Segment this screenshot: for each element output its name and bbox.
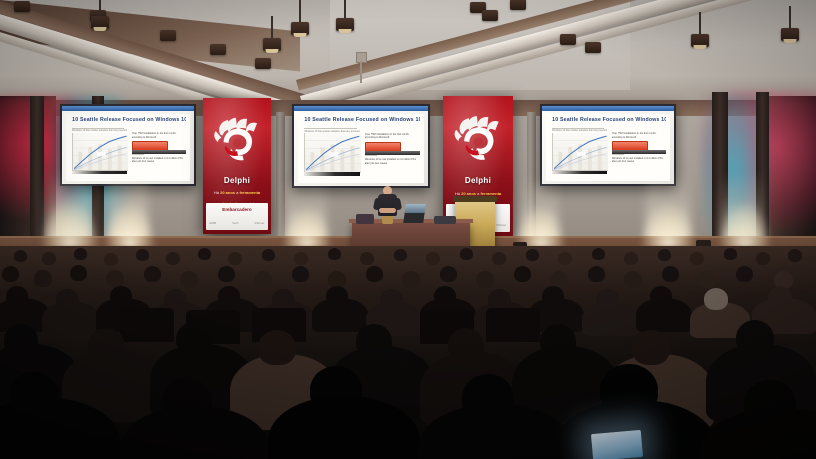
audience-head [258,330,296,365]
audience-head [460,248,473,260]
speaker-hands [379,208,396,213]
stage-spotlight-icon [585,42,601,53]
stage-spotlight-icon [510,0,526,10]
audience-head-grey-hair [704,288,728,310]
audience-head [542,286,564,306]
slide-window-titlebar [542,106,674,111]
ceiling [0,0,816,108]
sponsor-logo-center: Tech [232,221,238,225]
audience-head [166,252,180,265]
sponsor-logo-right: Partner [496,223,506,227]
audience-head [42,252,56,265]
presenter-table [352,222,470,248]
slide-chart-footer [552,171,607,174]
audience-head [272,289,295,310]
audience-head [744,380,796,428]
slide-title: 10 Seattle Release Focused on Windows 10 [72,117,186,123]
audience-head [426,252,440,265]
audience-head-foreground [600,364,658,416]
floor-uplight-1 [40,200,100,248]
audience-head [724,248,737,260]
banner-tagline-line1: Há 20 anos a ferramenta [203,190,271,195]
audience-head [514,266,531,282]
audience-head [326,286,348,306]
lectern-top [453,196,497,202]
audience-head [162,378,212,424]
audience-head [356,324,392,358]
seat-back [486,308,540,342]
slide-highlight-bar [612,141,667,149]
slide-bullet-2: Windows 10 is now installed on 11 millio… [132,157,187,165]
seat-back [120,308,174,342]
audience-head [262,249,275,261]
slide-title: 10 Seattle Release Focused on Windows 10 [304,117,420,123]
laptop-screen [405,204,426,213]
audience-head [558,252,572,265]
audience-head [4,324,38,356]
spartan-helmet-svg [209,109,265,169]
slide-small-divider [365,155,378,156]
stage-spotlight-icon [160,30,176,41]
floor-uplight-5 [640,202,696,248]
audience-head [476,271,494,288]
audience-head [462,374,514,422]
slide-bullet-2: Windows 10 is now installed on 11 millio… [365,158,420,166]
tagline-em-tool: ferramenta [239,190,260,195]
audience-head [540,324,576,358]
audience-head [440,266,457,282]
slide-title: 10 Seattle Release Focused on Windows 10 [552,117,666,123]
adoption-line-chart [553,133,608,171]
audience-head [624,252,638,265]
audience-head [366,266,383,282]
stage-spotlight-icon [14,1,30,12]
spartan-helmet-svg [449,107,506,169]
slide-chart-footer [304,172,359,175]
slide-chart [72,133,128,172]
slide-small-divider [612,154,624,155]
audience-head [736,320,774,356]
audience-head [294,252,308,265]
audience-head [448,328,484,362]
audience-head [218,286,240,306]
floor-uplight-6 [718,202,772,248]
audience-head [380,289,403,310]
audience-head [360,252,374,265]
audience-head [658,249,671,261]
audience-head [88,328,124,361]
audience-head [488,289,511,310]
audience-head [164,289,187,310]
audience-head [74,248,87,260]
audience-head [402,271,420,288]
audience-head [328,248,341,260]
stage-spotlight-icon [560,34,576,45]
audience-head [434,286,456,306]
slide-highlight-bar [132,141,187,149]
audience-head [34,270,52,287]
audience-head [180,271,198,288]
audience-head [690,252,704,265]
audience-head [56,289,79,310]
equipment-on-table [434,216,456,224]
audience-head [662,266,679,282]
slide-highlight-bar [365,142,420,150]
audience-head [310,366,362,414]
audience-head [14,250,27,262]
audience-head [526,249,539,261]
floor-uplight-2 [104,202,156,248]
sponsor-main-logo: Embarcadero [222,207,251,212]
audience-head [788,249,802,262]
audience-head [70,265,87,281]
audience-head [394,249,407,261]
audience-head [2,266,19,282]
bag-on-table [356,214,374,224]
conference-hall-photo: 10 Seattle Release Focused on Windows 10… [0,0,816,459]
audience-head [106,270,124,287]
slide-content: 10 Seattle Release Focused on Windows 10… [298,114,424,183]
slide-chart [304,133,360,173]
audience-head [650,286,672,306]
audience-head [10,372,58,416]
slide-small-divider [132,154,144,155]
slide-bullet-1: Over 75M installations in the first mont… [612,132,667,140]
audience-head [218,266,235,282]
audience-head [588,266,605,282]
audience-head [736,266,753,282]
slide-bullet-1: Over 75M installations in the first mont… [132,132,187,140]
spartan-helmet-logo-icon [209,109,265,169]
banner-sponsor-footer: Embarcadero EMB Tech Partner [206,203,269,230]
slide-window-titlebar [294,106,428,111]
audience-head [136,249,149,261]
audience-head [144,266,161,282]
floor-uplight-3 [282,206,332,248]
adoption-line-chart [305,133,360,172]
sponsor-logo-row: EMB Tech Partner [209,219,264,228]
audience-head [292,266,309,282]
adoption-line-chart [73,133,128,171]
ceiling-conduit [360,61,362,83]
stage-spotlight-icon [210,44,226,55]
sponsor-logo-right: Partner [255,221,265,225]
audience-head [228,252,242,265]
tagline-em-years: 20 anos [220,190,235,195]
audience-head [596,289,619,310]
audience-head [104,253,118,266]
slide-bullet-1: Over 75M installations in the first mont… [365,133,420,141]
audience-head [176,322,212,356]
spartan-helmet-logo-icon [449,107,506,169]
laptop-on-table [403,212,425,223]
audience-head [492,252,506,265]
audience-head [698,271,716,288]
stage-spotlight-icon [482,10,498,21]
audience-head [198,248,211,260]
audience-head [624,271,642,288]
sponsor-logo-left: EMB [209,221,216,225]
delphi-banner-left: Delphi Há 20 anos a ferramenta mais atua… [203,98,271,234]
audience-head [110,286,132,306]
slide-bullet-2: Windows 10 is now installed on 11 millio… [612,157,667,165]
banner-product-name: Delphi [443,176,513,185]
audience-head [254,271,272,288]
slide-chart [552,133,608,172]
audience-head [768,286,792,308]
audience-head [632,330,670,365]
presenter-speaker [374,186,400,226]
smartphone-screen-icon [591,430,643,459]
audience-head [6,286,28,306]
projection-screen-2: 10 Seattle Release Focused on Windows 10… [292,104,430,188]
stage-spotlight-icon [255,58,271,69]
audience-head [592,248,605,260]
banner-product-name: Delphi [203,176,271,185]
audience-head [756,252,770,265]
slide-window-titlebar [62,106,194,111]
audience [0,246,816,459]
